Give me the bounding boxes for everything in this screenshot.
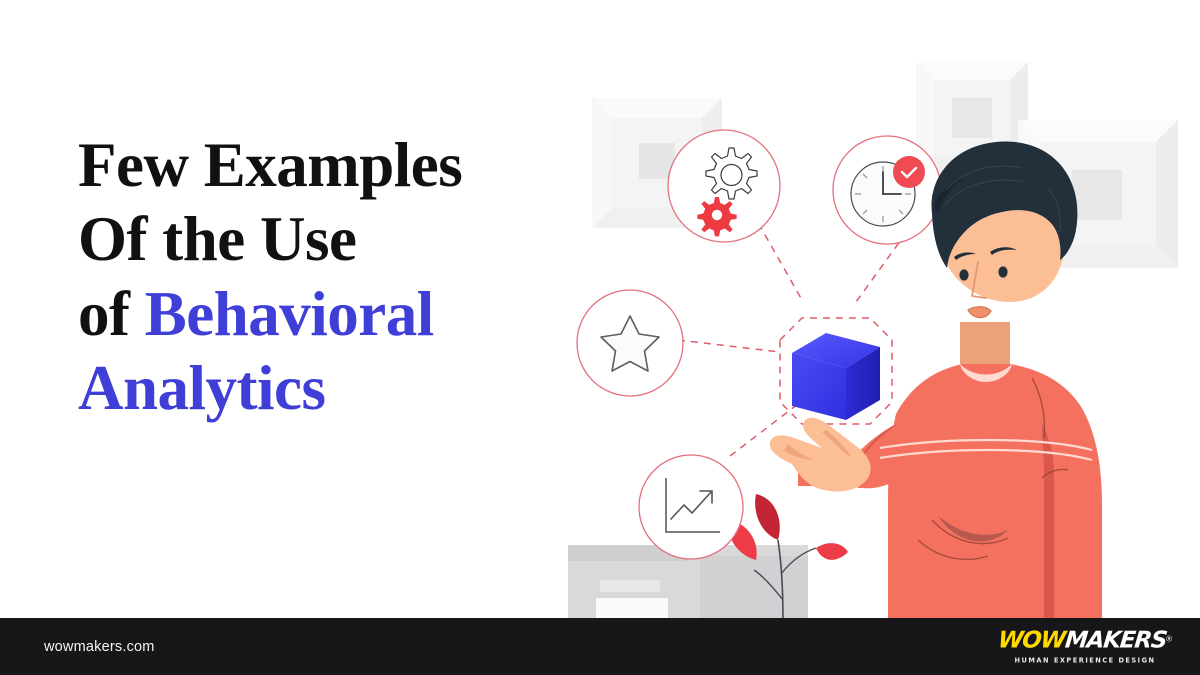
connector-lines bbox=[678, 212, 914, 456]
page-title: Few Examples Of the Use of Behavioral An… bbox=[78, 128, 578, 425]
star-icon-node bbox=[577, 290, 683, 396]
logo-word-wow: WOW bbox=[997, 629, 1066, 652]
growth-chart-icon-node bbox=[639, 455, 743, 559]
headline-line-4-accent: Analytics bbox=[78, 351, 578, 425]
footer-bar: wowmakers.com WOWMAKERS® HUMAN EXPERIENC… bbox=[0, 618, 1200, 675]
settings-gears-icon-node bbox=[668, 130, 780, 242]
blue-cube-node bbox=[780, 318, 892, 424]
gear-solid-icon bbox=[697, 197, 736, 236]
open-hand bbox=[770, 418, 871, 492]
headline-line-1: Few Examples bbox=[78, 128, 578, 202]
headline-line-3-prefix: of bbox=[78, 279, 145, 349]
headline-line-3: of Behavioral bbox=[78, 277, 578, 351]
wowmakers-logo[interactable]: WOWMAKERS® HUMAN EXPERIENCE DESIGN bbox=[998, 629, 1172, 664]
mouth bbox=[968, 307, 991, 318]
registered-trademark-icon: ® bbox=[1166, 634, 1172, 643]
check-badge-icon bbox=[893, 156, 925, 188]
logo-tagline: HUMAN EXPERIENCE DESIGN bbox=[998, 657, 1172, 664]
footer-website-url[interactable]: wowmakers.com bbox=[44, 639, 155, 655]
logo-word-makers: MAKERS bbox=[1064, 629, 1168, 652]
headline-line-2: Of the Use bbox=[78, 202, 578, 276]
gear-outline-icon bbox=[706, 148, 757, 199]
clock-check-icon-node bbox=[833, 136, 941, 244]
hero-illustration bbox=[540, 0, 1200, 620]
headline-line-3-accent: Behavioral bbox=[145, 279, 434, 349]
slide-canvas: Few Examples Of the Use of Behavioral An… bbox=[0, 0, 1200, 675]
